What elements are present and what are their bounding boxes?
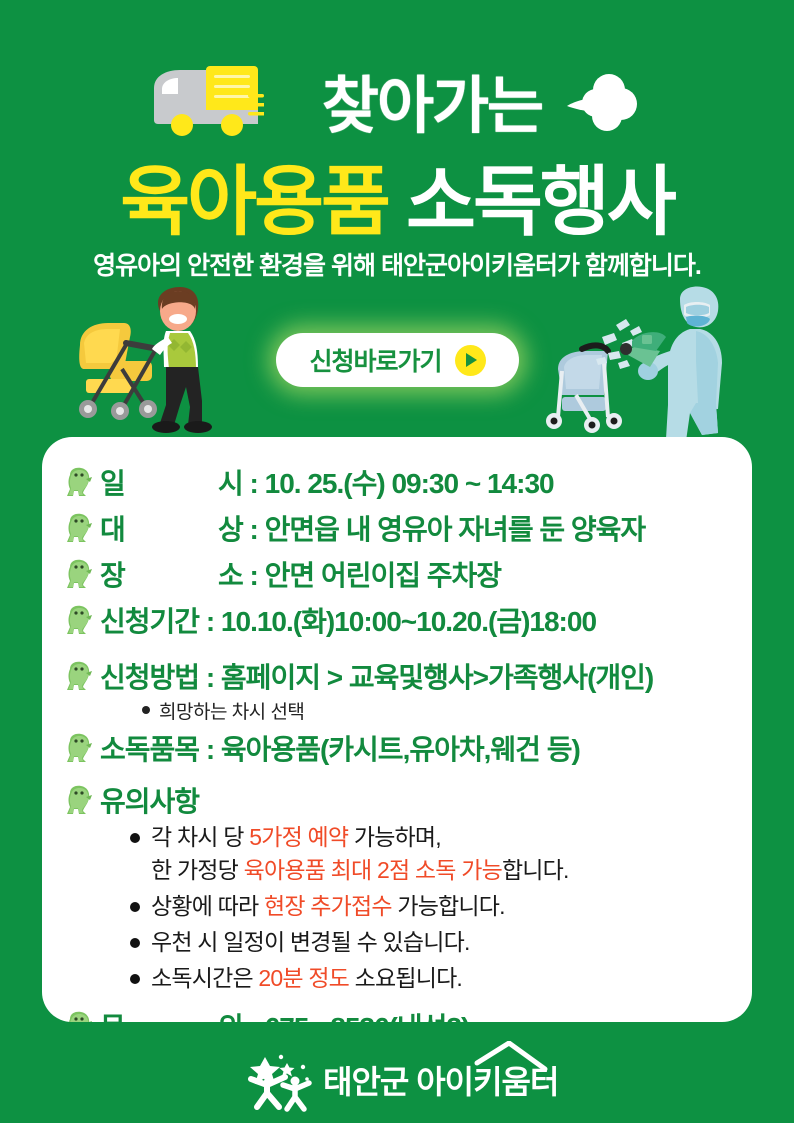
- info-row-label: 장: [100, 554, 218, 594]
- note-item: 우천 시 일정이 변경될 수 있습니다.: [130, 926, 752, 959]
- info-row-label: 대: [100, 508, 218, 548]
- bullet-dot-icon: [130, 902, 140, 912]
- apply-now-label: 신청바로가기: [309, 342, 441, 378]
- note-item: 각 차시 당 5가정 예약 가능하며,한 가정당 육아용품 최대 2점 소독 가…: [130, 821, 752, 887]
- note-highlight: 5가정 예약: [249, 824, 348, 850]
- info-row: 소독품목 : 육아용품(카시트,유아차,웨건 등): [42, 725, 752, 771]
- apply-now-button[interactable]: 신청바로가기: [276, 333, 519, 387]
- poster-header: 찾아가는 육아용품 소독행사 영유아의 안전한 환경을 위해 태안군아이키움터가…: [0, 0, 794, 437]
- info-row-value: 시 : 10. 25.(수) 09:30 ~ 14:30: [218, 462, 554, 502]
- info-row-value: 소 : 안면 어린이집 주차장: [218, 554, 501, 594]
- footer: 태안군 아이키움터: [0, 1030, 794, 1123]
- note-plain: 합니다.: [502, 857, 569, 883]
- notes-heading-row: 유의사항: [42, 779, 752, 821]
- bullet-dot-icon: [130, 833, 140, 843]
- info-row: 일 시 : 10. 25.(수) 09:30 ~ 14:30: [42, 459, 752, 505]
- dinosaur-bullet-icon: [62, 465, 96, 499]
- note-plain: 소독시간은: [151, 965, 258, 991]
- bullet-dot-icon: [130, 938, 140, 948]
- info-row: 신청기간 : 10.10.(화)10:00~10.20.(금)18:00: [42, 597, 752, 643]
- dinosaur-bullet-icon: [62, 1009, 96, 1022]
- note-text: 상황에 따라 현장 추가접수 가능합니다.: [151, 890, 505, 923]
- note-text: 각 차시 당 5가정 예약 가능하며,한 가정당 육아용품 최대 2점 소독 가…: [151, 821, 569, 887]
- bullet-dot-icon: [142, 706, 150, 714]
- info-row: 대 상 : 안면읍 내 영유아 자녀를 둔 양육자: [42, 505, 752, 551]
- sub-bullet-label: 희망하는 차시 선택: [159, 697, 304, 724]
- info-row-value: 상 : 안면읍 내 영유아 자녀를 둔 양육자: [218, 508, 645, 548]
- event-info-card: 일 시 : 10. 25.(수) 09:30 ~ 14:30 대 상 : 안면읍…: [42, 437, 752, 1022]
- footer-logo-text: 태안군 아이키움터: [323, 1064, 557, 1100]
- note-highlight: 현장 추가접수: [264, 893, 392, 919]
- dinosaur-bullet-icon: [62, 603, 96, 637]
- contact-row: 문 의 : 675 - 8536(내선3): [42, 1001, 752, 1022]
- note-plain: 상황에 따라: [151, 893, 264, 919]
- note-text: 우천 시 일정이 변경될 수 있습니다.: [151, 926, 470, 959]
- note-plain: 우천 시 일정이 변경될 수 있습니다.: [151, 929, 470, 955]
- dinosaur-bullet-icon: [62, 783, 96, 817]
- info-row: 신청방법 : 홈페이지 > 교육및행사>가족행사(개인): [42, 653, 752, 699]
- note-plain: 가능합니다.: [392, 893, 505, 919]
- page-title-highlight: 육아용품: [120, 160, 388, 245]
- notes-list: 각 차시 당 5가정 예약 가능하며,한 가정당 육아용품 최대 2점 소독 가…: [42, 821, 752, 995]
- note-plain: 소요됩니다.: [349, 965, 462, 991]
- note-plain: 각 차시 당: [151, 824, 249, 850]
- poster-root: 찾아가는 육아용품 소독행사 영유아의 안전한 환경을 위해 태안군아이키움터가…: [0, 0, 794, 1123]
- dinosaur-bullet-icon: [62, 557, 96, 591]
- contact-label: 문: [100, 1006, 218, 1022]
- info-row: 장 소 : 안면 어린이집 주차장: [42, 551, 752, 597]
- bullet-dot-icon: [130, 974, 140, 984]
- ppe-worker-spraying-stroller-illustration: [530, 285, 765, 445]
- info-row-label: 신청기간 : 10.10.(화)10:00~10.20.(금)18:00: [100, 600, 596, 640]
- sub-bullet-item: 희망하는 차시 선택: [42, 695, 752, 725]
- page-subtitle: 영유아의 안전한 환경을 위해 태안군아이키움터가 함께합니다.: [0, 246, 794, 282]
- info-row-label: 일: [100, 462, 218, 502]
- page-title-line1: 찾아가는: [0, 55, 794, 145]
- dinosaur-bullet-icon: [62, 659, 96, 693]
- note-highlight: 20분 정도: [258, 965, 349, 991]
- note-plain: 가능하며,: [348, 824, 441, 850]
- dinosaur-bullet-icon: [62, 511, 96, 545]
- note-highlight: 육아용품 최대 2점 소독 가능: [244, 857, 502, 883]
- info-row-label: 신청방법 : 홈페이지 > 교육및행사>가족행사(개인): [100, 656, 653, 696]
- taean-ikiumteo-logo: 태안군 아이키움터: [237, 1041, 557, 1113]
- play-triangle-icon: [455, 345, 486, 376]
- note-plain: 한 가정당: [151, 857, 244, 883]
- note-text: 소독시간은 20분 정도 소요됩니다.: [151, 962, 462, 995]
- dinosaur-bullet-icon: [62, 731, 96, 765]
- info-row-label: 소독품목 : 육아용품(카시트,유아차,웨건 등): [100, 728, 580, 768]
- note-item: 소독시간은 20분 정도 소요됩니다.: [130, 962, 752, 995]
- page-title-rest: 소독행사: [388, 160, 674, 245]
- contact-value: 의 : 675 - 8536(내선3): [218, 1006, 469, 1022]
- page-title-line2: 육아용품 소독행사: [0, 140, 794, 250]
- man-pushing-yellow-stroller-illustration: [62, 283, 252, 443]
- note-item: 상황에 따라 현장 추가접수 가능합니다.: [130, 890, 752, 923]
- notes-heading-label: 유의사항: [100, 780, 199, 820]
